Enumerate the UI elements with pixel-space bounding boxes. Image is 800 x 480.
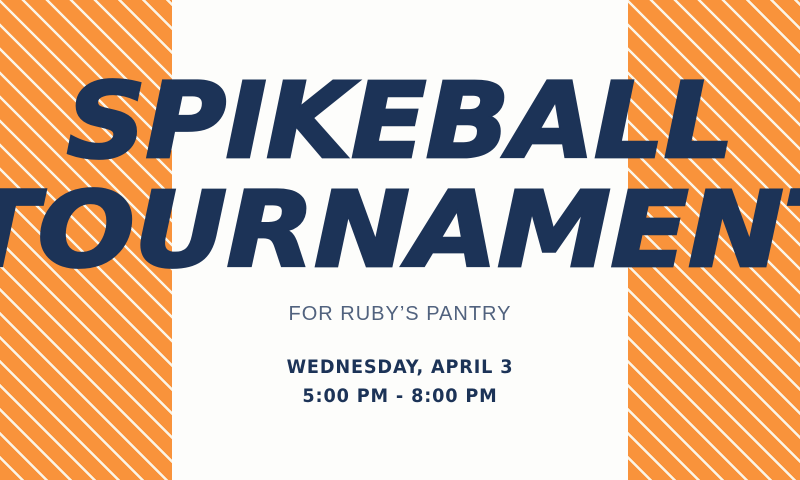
event-details: WEDNESDAY, APRIL 3 5:00 PM - 8:00 PM [0,353,800,411]
subheadline: FOR RUBY’S PANTRY [0,303,800,326]
event-date: WEDNESDAY, APRIL 3 [28,353,772,382]
flyer-canvas: SPIKEBALL TOURNAMENT FOR RUBY’S PANTRY W… [0,0,800,480]
event-time: 5:00 PM - 8:00 PM [28,382,772,411]
